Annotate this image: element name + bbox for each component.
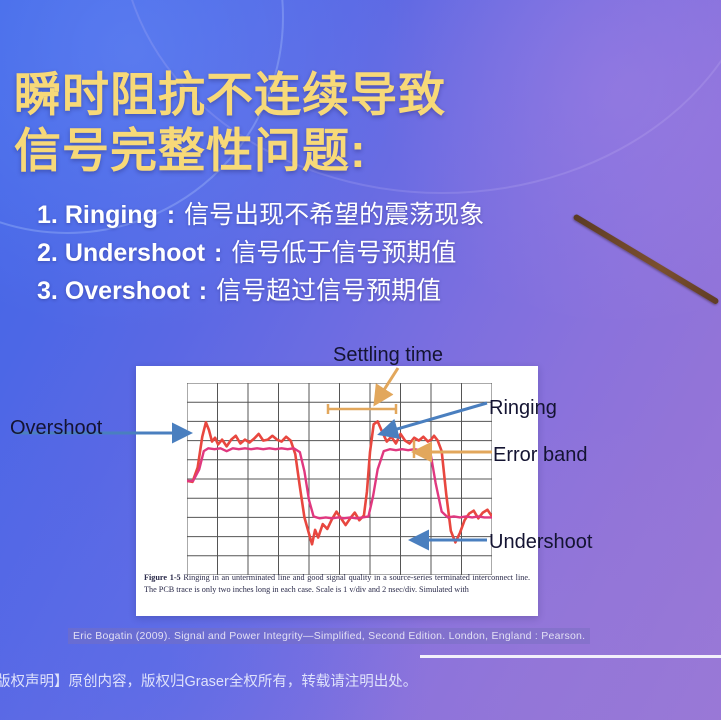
divider-rule — [420, 655, 721, 658]
list-item-description: 信号超过信号预期值 — [216, 277, 441, 305]
list-item-term: Overshoot — [65, 277, 190, 305]
list-item: 1. Ringing : 信号出现不希望的震荡现象 — [37, 196, 637, 234]
page-title-line-1: 瞬时阻抗不连续导致 — [14, 67, 614, 122]
slide-canvas: 瞬时阻抗不连续导致 信号完整性问题: 1. Ringing : 信号出现不希望的… — [0, 0, 721, 720]
list-item-term: Undershoot — [65, 239, 205, 267]
callout-overshoot: Overshoot — [10, 417, 102, 440]
callout-settling-time: Settling time — [333, 344, 443, 367]
list-item-separator: : — [165, 201, 177, 229]
list-item-separator: : — [212, 239, 224, 267]
list-item-separator: : — [197, 277, 209, 305]
list-item: 2. Undershoot : 信号低于信号预期值 — [37, 234, 637, 272]
callout-undershoot: Undershoot — [489, 531, 592, 554]
list-item-term: Ringing — [65, 201, 158, 229]
list-item-number: 3. — [37, 277, 58, 305]
oscilloscope-plot — [187, 383, 492, 575]
figure-caption: Figure 1-5 Ringing in an unterminated li… — [144, 572, 530, 595]
page-title-line-2: 信号完整性问题: — [14, 123, 614, 178]
list-item-number: 1. — [37, 201, 58, 229]
list-item-description: 信号低于信号预期值 — [231, 239, 456, 267]
callout-error-band: Error band — [493, 444, 588, 467]
callout-ringing: Ringing — [489, 397, 557, 420]
figure-caption-label: Figure 1-5 — [144, 573, 181, 582]
source-citation: Eric Bogatin (2009). Signal and Power In… — [68, 628, 590, 644]
copyright-footer: 版权声明】原创内容，版权归Graser全权所有，转载请注明出处。 — [0, 670, 417, 691]
figure-panel: Figure 1-5 Ringing in an unterminated li… — [136, 366, 538, 616]
plot-traces — [187, 383, 492, 575]
figure-caption-text: Ringing in an unterminated line and good… — [144, 573, 530, 594]
list-item-number: 2. — [37, 239, 58, 267]
concept-list: 1. Ringing : 信号出现不希望的震荡现象 2. Undershoot … — [37, 196, 637, 310]
list-item-description: 信号出现不希望的震荡现象 — [184, 201, 484, 229]
page-title: 瞬时阻抗不连续导致 信号完整性问题: — [14, 67, 614, 178]
list-item: 3. Overshoot : 信号超过信号预期值 — [37, 272, 637, 310]
